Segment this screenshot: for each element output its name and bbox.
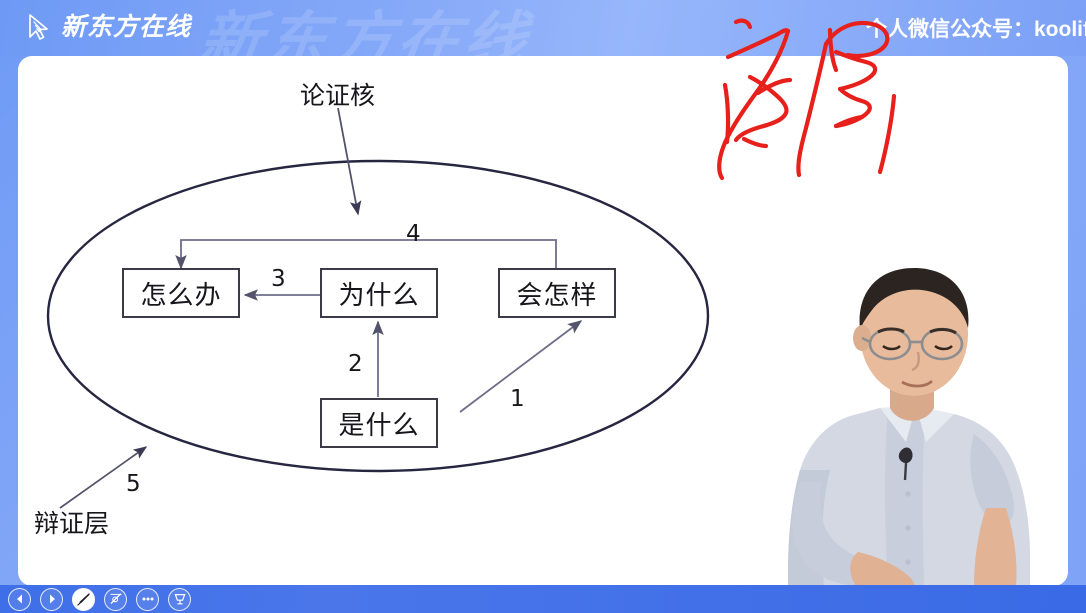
previous-page-button[interactable] <box>8 588 31 611</box>
promo-wechat-text: 个人微信公众号：koolif <box>866 0 1086 56</box>
header-watermark-text: 新东方在线 <box>194 0 537 56</box>
dialectic-layer-label: 辩证层 <box>34 504 109 540</box>
more-tools-button[interactable] <box>136 588 159 611</box>
node-weishenme[interactable]: 为什么 <box>320 268 438 318</box>
edge-number-3: 3 <box>271 266 286 292</box>
app-header: 新东方在线 新东方在线 个人微信公众号：koolif <box>0 0 1086 56</box>
eraser-icon <box>173 592 187 606</box>
diagram-vector-layer <box>18 56 1068 586</box>
argument-core-label: 论证核 <box>300 76 375 112</box>
pen-tool-button[interactable] <box>72 588 95 611</box>
edge-4-connector <box>181 240 556 270</box>
edge-number-5: 5 <box>126 471 141 497</box>
brand-logo: 新东方在线 <box>24 6 191 48</box>
chevron-left-icon <box>14 593 26 605</box>
ellipsis-icon <box>141 596 155 602</box>
edge-number-1: 1 <box>510 386 525 412</box>
cursor-arrow-logo-icon <box>24 12 54 42</box>
brand-name-text: 新东方在线 <box>61 15 191 40</box>
next-page-button[interactable] <box>40 588 63 611</box>
whiteboard-canvas[interactable]: 论证核 怎么办 为什么 会怎样 是什么 1 2 3 4 5 辩证层 <box>18 56 1068 586</box>
node-zenmeban[interactable]: 怎么办 <box>122 268 240 318</box>
bottom-toolbar[interactable] <box>0 585 1086 613</box>
laser-pointer-button[interactable] <box>104 588 127 611</box>
eraser-tool-button[interactable] <box>168 588 191 611</box>
node-shishenme[interactable]: 是什么 <box>320 398 438 448</box>
pen-icon <box>76 592 91 607</box>
whiteboard-lecture-screen: 新东方在线 新东方在线 个人微信公众号：koolif <box>0 0 1086 613</box>
edge-number-2: 2 <box>348 351 363 377</box>
node-huizenyang[interactable]: 会怎样 <box>498 268 616 318</box>
chevron-right-icon <box>46 593 58 605</box>
edge-number-4: 4 <box>406 221 421 247</box>
laser-pointer-icon <box>109 592 123 606</box>
